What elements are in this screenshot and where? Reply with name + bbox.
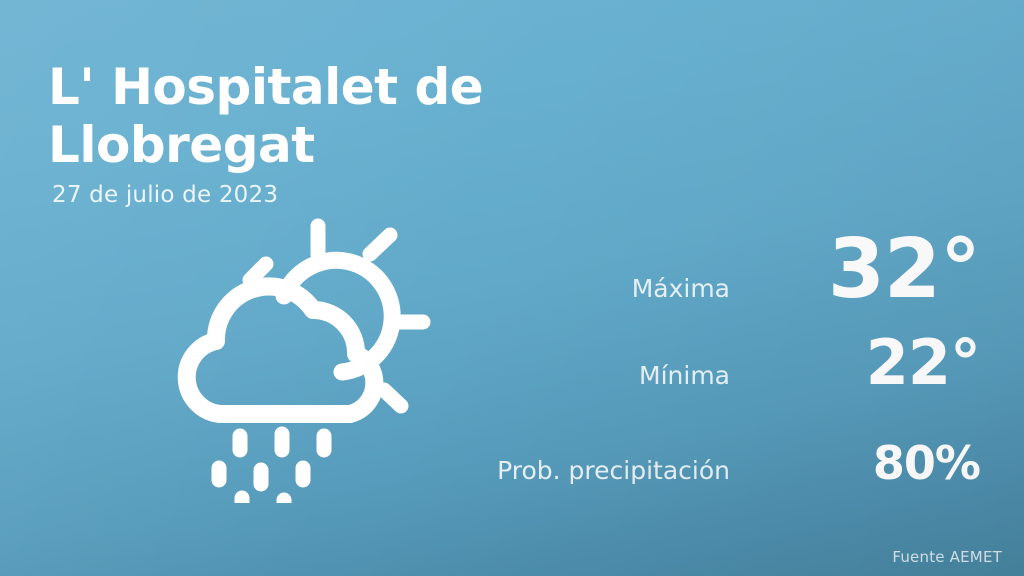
weather-card: L' Hospitalet de Llobregat 27 de julio d…: [0, 0, 1024, 576]
precipitacion-value: 80%: [730, 436, 980, 490]
forecast-stats: Máxima 32° Mínima 22° Prob. precipitació…: [400, 222, 980, 510]
minima-value: 22°: [730, 326, 980, 399]
forecast-date: 27 de julio de 2023: [52, 182, 668, 208]
precipitacion-label: Prob. precipitación: [497, 456, 730, 485]
raindrops-icon: [219, 434, 324, 503]
maxima-value: 32°: [730, 222, 980, 317]
sun-behind-rain-cloud-icon: [146, 218, 431, 503]
stat-row-maxima: Máxima 32°: [400, 222, 980, 326]
stat-row-precipitacion: Prob. precipitación 80%: [400, 436, 980, 510]
cloud-outline-icon: [187, 287, 375, 414]
card-header: L' Hospitalet de Llobregat 27 de julio d…: [48, 58, 668, 208]
sun-ray-upper-left-icon: [250, 264, 266, 280]
source-attribution: Fuente AEMET: [892, 548, 1002, 566]
stat-row-minima: Mínima 22°: [400, 326, 980, 436]
minima-label: Mínima: [639, 361, 730, 390]
city-title: L' Hospitalet de Llobregat: [48, 58, 668, 174]
maxima-label: Máxima: [632, 274, 730, 303]
